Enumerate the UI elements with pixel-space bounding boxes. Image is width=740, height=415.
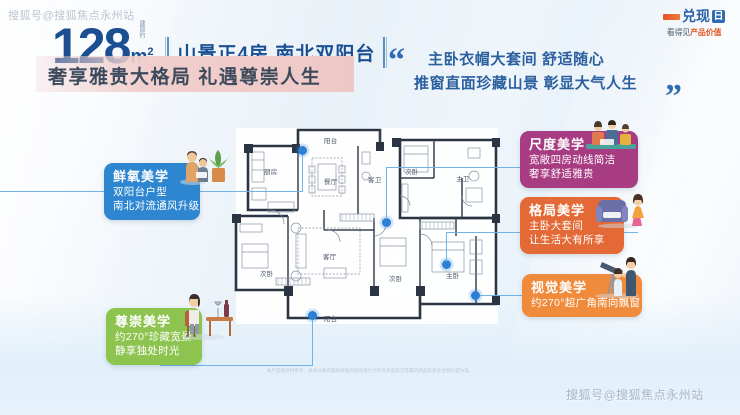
callout-title-xianyang: 鲜氧美学	[113, 169, 191, 185]
quote-lines: 主卧衣帽大套间 舒适随心 推窗直面珍藏山景 彰显大气人生	[388, 48, 684, 96]
connector-balcony-bottom-vertical	[312, 320, 313, 365]
headline-subline: 奢享雅贵大格局 礼遇尊崇人生	[48, 62, 321, 89]
badge-title: 兑现	[682, 9, 710, 24]
badge-accent-bar-icon	[663, 14, 680, 20]
room-label-7: 客厅	[323, 251, 336, 261]
callout-line-shijue-1: 约270°超广角南向飘窗	[531, 296, 633, 310]
watermark-bottom: 搜狐号@搜狐焦点永州站	[566, 386, 704, 403]
callout-line-geju-1: 主卧大套间	[529, 219, 615, 233]
badge-subtitle-pre: 看得见	[667, 28, 690, 37]
quote-close-mark: ”	[665, 84, 682, 110]
room-label-1: 厨房	[264, 166, 277, 176]
callout-title-geju: 格局美学	[529, 203, 615, 219]
connector-bedroom-2-vertical	[446, 232, 447, 262]
room-label-0: 阳台	[324, 135, 337, 145]
callout-title-shijue: 视觉美学	[531, 280, 633, 296]
campaign-badge: 兑现 日 看得见产品价值	[653, 8, 735, 42]
floor-plan-disclaimer: 本户型图仅供参考，具体以政府最终批准的规划设计文件及买卖双方签署的商品房买卖合同…	[238, 368, 502, 374]
callout-card-xianyang[interactable]: 鲜氧美学 双阳台户型 南北对流通风升级	[104, 163, 200, 220]
callout-title-chidu: 尺度美学	[529, 137, 629, 153]
campaign-badge-row: 兑现 日	[653, 8, 735, 25]
hotspot-dot-balcony-bottom[interactable]	[308, 311, 317, 320]
room-label-3: 客卫	[368, 174, 381, 184]
callout-line-geju-2: 让生活大有所享	[529, 233, 615, 247]
room-label-6: 次卧	[260, 268, 273, 278]
room-label-9: 主卧	[446, 270, 459, 280]
room-label-5: 主卫	[456, 173, 469, 183]
connector-corridor-vertical	[386, 167, 387, 219]
callout-line-zunchong-1: 约270°珍藏宽景	[115, 330, 193, 344]
callout-line-xianyang-2: 南北对流通风升级	[113, 199, 191, 213]
callout-line-chidu-2: 奢享舒适雅贵	[529, 167, 629, 181]
callout-card-shijue[interactable]: 视觉美学 约270°超广角南向飘窗	[522, 274, 642, 317]
connector-xianyang-lead	[0, 191, 104, 192]
quote-line-2: 推窗直面珍藏山景 彰显大气人生	[414, 72, 684, 96]
area-prefix-vertical: 建面约	[138, 20, 144, 38]
callout-line-xianyang-1: 双阳台户型	[113, 185, 191, 199]
callout-card-chidu[interactable]: 尺度美学 宽敞四房动线简洁 奢享舒适雅贵	[520, 131, 638, 188]
badge-day-chip: 日	[712, 10, 725, 23]
room-label-2: 餐厅	[324, 176, 337, 186]
connector-balcony-bottom-horizontal	[160, 365, 313, 366]
quote-open-mark: “	[388, 48, 405, 74]
quote-block: “ ” 主卧衣帽大套间 舒适随心 推窗直面珍藏山景 彰显大气人生	[388, 48, 684, 96]
badge-subtitle-accent: 产品价值	[690, 28, 721, 37]
hotspot-dot-corridor[interactable]	[382, 218, 391, 227]
room-label-10: 阳台	[324, 313, 337, 323]
callout-card-zunchong[interactable]: 尊崇美学 约270°珍藏宽景 静享独处时光	[106, 308, 202, 365]
quote-line-1: 主卧衣帽大套间 舒适随心	[428, 48, 684, 72]
hotspot-dot-master-bay[interactable]	[471, 291, 480, 300]
callout-line-zunchong-2: 静享独处时光	[115, 344, 193, 358]
callout-title-zunchong: 尊崇美学	[115, 314, 193, 330]
callout-line-chidu-1: 宽敞四房动线简洁	[529, 153, 629, 167]
badge-subtitle: 看得见产品价值	[653, 27, 735, 38]
connector-balcony-top-vertical	[302, 155, 303, 191]
connector-balcony-top-horizontal	[200, 191, 303, 192]
hotspot-dot-balcony-top[interactable]	[298, 146, 307, 155]
room-label-8: 次卧	[389, 273, 402, 283]
poster-canvas: 搜狐号@搜狐焦点永州站 兑现 日 看得见产品价值 128 建面约 m2 山景正4…	[0, 0, 740, 415]
callout-card-geju[interactable]: 格局美学 主卧大套间 让生活大有所享	[520, 197, 624, 254]
